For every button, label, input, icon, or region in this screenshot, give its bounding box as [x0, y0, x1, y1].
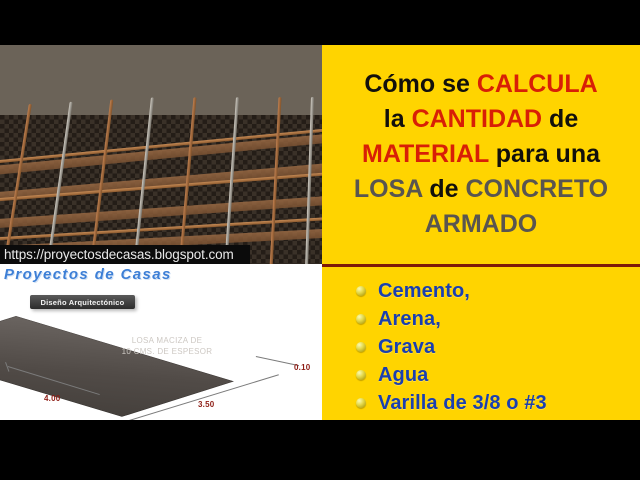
- title-line-2: la CANTIDAD de: [384, 102, 578, 137]
- left-column: https://proyectosdecasas.blogspot.com Pr…: [0, 45, 322, 420]
- dimension-label-width: 3.50: [198, 400, 214, 409]
- video-thumbnail-stage: https://proyectosdecasas.blogspot.com Pr…: [0, 0, 640, 480]
- title-line-4-part-1: LOSA: [354, 175, 423, 203]
- title-line-2-part-2: CANTIDAD: [412, 105, 543, 133]
- bullet-sphere-icon: [356, 314, 366, 324]
- url-watermark-overlay: https://proyectosdecasas.blogspot.com: [0, 245, 250, 264]
- content-band: https://proyectosdecasas.blogspot.com Pr…: [0, 45, 640, 420]
- list-item-label: Arena,: [378, 308, 441, 331]
- list-item: Grava: [356, 333, 640, 361]
- url-watermark-text: https://proyectosdecasas.blogspot.com: [0, 247, 234, 262]
- dimension-line-thickness: [256, 356, 299, 366]
- materials-list: Cemento, Arena, Grava Agua Varilla de 3/…: [322, 273, 640, 420]
- right-column: Cómo se CALCULA la CANTIDAD de MATERIAL …: [322, 45, 640, 420]
- title-line-2-part-1: la: [384, 105, 412, 133]
- dimension-label-thickness: 0.10: [294, 363, 310, 372]
- list-item-label: Grava: [378, 336, 435, 359]
- list-item: Agua: [356, 361, 640, 389]
- concrete-slab-illustration: LOSA MACIZA DE 10 CMS. DE ESPESOR 4.00 3…: [6, 306, 316, 418]
- list-item: Cemento,: [356, 277, 640, 305]
- dimension-label-length: 4.00: [44, 394, 60, 403]
- slab-label-line-2: 10 CMS. DE ESPESOR: [102, 346, 232, 357]
- list-item: Varilla de 3/8 o #3: [356, 389, 640, 417]
- title-line-5-part-1: ARMADO: [425, 210, 538, 238]
- title-line-3: MATERIAL para una: [362, 137, 600, 172]
- title-line-1-part-1: Cómo se: [364, 70, 477, 98]
- title-line-2-part-3: de: [542, 105, 578, 133]
- list-item-label: Cemento,: [378, 280, 470, 303]
- slab-diagram-panel: Proyectos de Casas Diseño Arquitectónico…: [0, 264, 322, 420]
- title-line-4-part-2: de: [422, 175, 465, 203]
- bullet-sphere-icon: [356, 286, 366, 296]
- bullet-sphere-icon: [356, 342, 366, 352]
- slab-label-line-1: LOSA MACIZA DE: [102, 335, 232, 346]
- slab-text-label: LOSA MACIZA DE 10 CMS. DE ESPESOR: [102, 335, 232, 357]
- section-divider: [322, 264, 640, 267]
- letterbox-bottom: [0, 420, 640, 480]
- proyectos-de-casas-logo: Proyectos de Casas: [4, 266, 172, 283]
- title-line-1: Cómo se CALCULA: [364, 67, 597, 102]
- title-line-3-part-2: para una: [489, 140, 600, 168]
- gravel-texture: [0, 45, 322, 123]
- title-line-5: ARMADO: [425, 207, 538, 242]
- list-item-label: Agua: [378, 364, 428, 387]
- title-block: Cómo se CALCULA la CANTIDAD de MATERIAL …: [322, 45, 640, 264]
- bullet-sphere-icon: [356, 370, 366, 380]
- rebar-grid-photo: https://proyectosdecasas.blogspot.com: [0, 45, 322, 264]
- bullet-sphere-icon: [356, 398, 366, 408]
- title-line-1-part-2: CALCULA: [477, 70, 598, 98]
- title-line-4: LOSA de CONCRETO: [354, 172, 608, 207]
- letterbox-top: [0, 0, 640, 45]
- list-item-label: Varilla de 3/8 o #3: [378, 392, 547, 415]
- title-line-3-part-1: MATERIAL: [362, 140, 489, 168]
- title-line-4-part-3: CONCRETO: [466, 175, 609, 203]
- list-item: Arena,: [356, 305, 640, 333]
